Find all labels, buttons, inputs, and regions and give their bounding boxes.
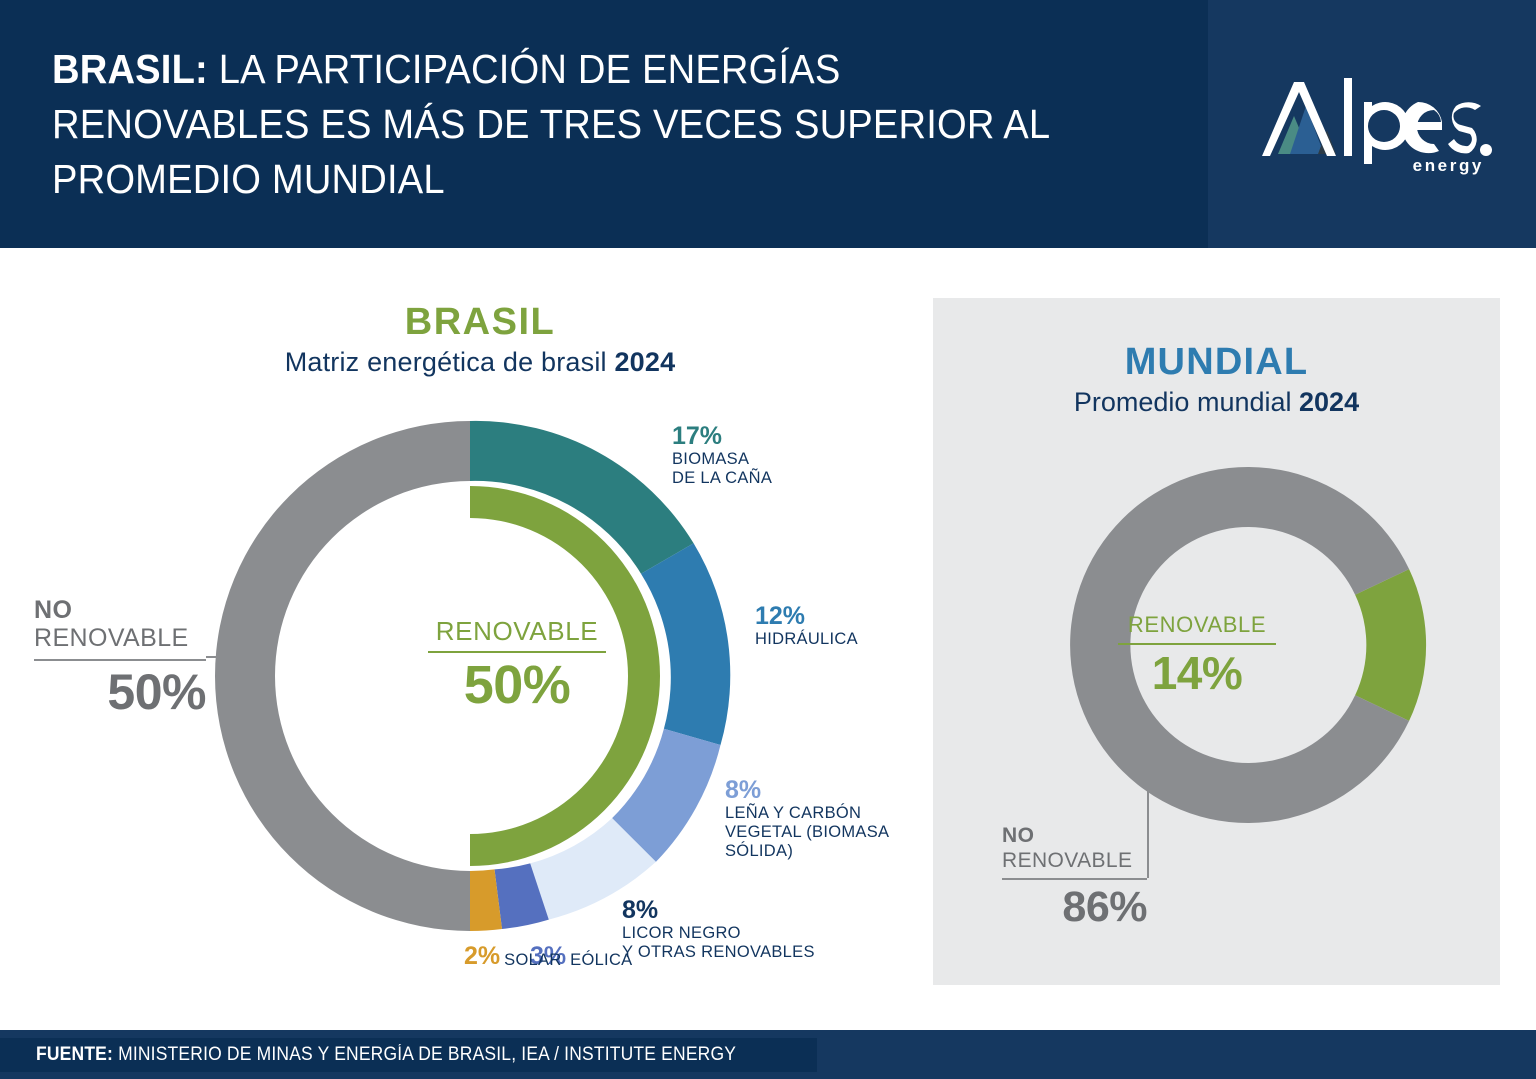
label-solar: 2%SOLAR — [464, 942, 562, 970]
mundial-subtitle-text: Promedio mundial — [1074, 387, 1299, 417]
header-banner: BRASIL: LA PARTICIPACIÓN DE ENERGÍAS REN… — [0, 0, 1536, 248]
label-licor-negro: 8% LICOR NEGROY OTRAS RENOVABLES — [622, 896, 815, 962]
alpes-energy-logo: energy — [1232, 72, 1492, 190]
brasil-no-renovable-line2: RENOVABLE — [34, 624, 206, 653]
brasil-no-renovable-callout: NO RENOVABLE 50% — [34, 596, 206, 721]
brasil-renovable-rule — [428, 651, 606, 653]
label-eolica-name: EÓLICA — [570, 951, 632, 970]
mundial-no-renovable-line1: NO — [1002, 824, 1147, 848]
brasil-subtitle-year: 2024 — [614, 347, 675, 377]
brasil-no-renovable-leader-line — [206, 656, 228, 658]
mundial-subtitle: Promedio mundial 2024 — [933, 384, 1500, 420]
mundial-heading: MUNDIAL Promedio mundial 2024 — [933, 340, 1500, 420]
brasil-title: BRASIL — [160, 300, 800, 344]
brasil-renovable-label: RENOVABLE — [428, 616, 606, 646]
mundial-renovable-center: RENOVABLE 14% — [1118, 612, 1276, 700]
footer-source-label: FUENTE: — [36, 1044, 113, 1065]
label-lena: 8% LEÑA Y CARBÓNVEGETAL (BIOMASASÓLIDA) — [725, 776, 889, 861]
label-licor-negro-name: LICOR NEGROY OTRAS RENOVABLES — [622, 924, 815, 962]
label-biomasa-name: BIOMASADE LA CAÑA — [672, 450, 772, 488]
footer-source: FUENTE: MINISTERIO DE MINAS Y ENERGÍA DE… — [36, 1043, 736, 1067]
label-solar-name: SOLAR — [504, 951, 561, 970]
brasil-renovable-value: 50% — [428, 654, 606, 716]
label-licor-negro-pct: 8% — [622, 896, 815, 924]
mundial-title: MUNDIAL — [933, 340, 1500, 384]
brasil-subtitle-text: Matriz energética de brasil — [285, 347, 615, 377]
mundial-no-renovable-callout: NO RENOVABLE 86% — [1002, 824, 1147, 932]
mundial-no-renovable-leader-line — [1147, 774, 1149, 878]
logo-subtitle: energy — [1413, 156, 1484, 176]
label-hidraulica-name: HIDRÁULICA — [755, 630, 858, 649]
brasil-subtitle: Matriz energética de brasil 2024 — [160, 344, 800, 380]
footer-source-text: MINISTERIO DE MINAS Y ENERGÍA DE BRASIL,… — [113, 1044, 736, 1065]
main-content: BRASIL Matriz energética de brasil 2024 … — [0, 248, 1536, 1030]
label-hidraulica: 12% HIDRÁULICA — [755, 602, 858, 649]
mundial-renovable-value: 14% — [1118, 646, 1276, 700]
mundial-no-renovable-value: 86% — [1002, 882, 1147, 932]
mundial-segment-renovable — [1355, 569, 1426, 721]
page-title-lead: BRASIL: — [52, 46, 208, 92]
label-biomasa-pct: 17% — [672, 422, 772, 450]
mundial-subtitle-year: 2024 — [1299, 387, 1359, 417]
mundial-renovable-rule — [1118, 643, 1276, 645]
brasil-no-renovable-line1: NO — [34, 596, 206, 624]
label-biomasa: 17% BIOMASADE LA CAÑA — [672, 422, 772, 488]
alpes-wordmark-icon — [1232, 72, 1492, 164]
brasil-heading: BRASIL Matriz energética de brasil 2024 — [160, 300, 800, 380]
brasil-no-renovable-rule — [34, 659, 206, 661]
label-lena-pct: 8% — [725, 776, 889, 804]
mundial-renovable-label: RENOVABLE — [1118, 612, 1276, 638]
mundial-no-renovable-rule — [1002, 878, 1147, 880]
brasil-no-renovable-value: 50% — [34, 663, 206, 721]
label-lena-name: LEÑA Y CARBÓNVEGETAL (BIOMASASÓLIDA) — [725, 804, 889, 861]
footer-bar: FUENTE: MINISTERIO DE MINAS Y ENERGÍA DE… — [0, 1030, 1536, 1079]
page-title: BRASIL: LA PARTICIPACIÓN DE ENERGÍAS REN… — [52, 42, 1094, 207]
mundial-no-renovable-line2: RENOVABLE — [1002, 848, 1147, 873]
label-hidraulica-pct: 12% — [755, 602, 858, 630]
brasil-renovable-center: RENOVABLE 50% — [428, 616, 606, 716]
label-solar-pct: 2% — [464, 942, 500, 970]
